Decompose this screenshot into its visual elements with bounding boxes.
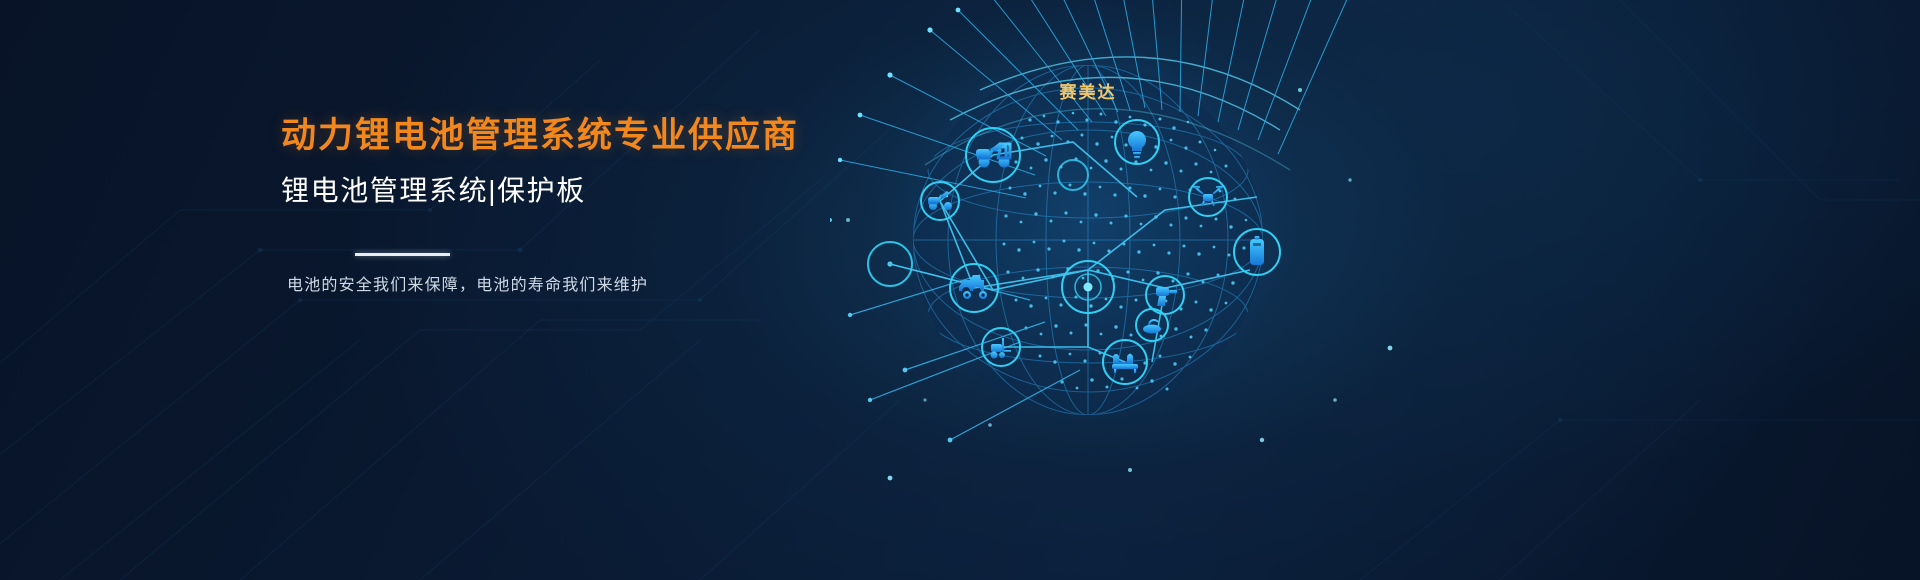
globe-network-graphic: 赛美达 (830, 0, 1530, 580)
hero-headline: 动力锂电池管理系统专业供应商 (281, 118, 901, 153)
brand-mark-text: 赛美达 (1059, 82, 1117, 102)
hero-subtitle: 锂电池管理系统|保护板 (281, 177, 901, 205)
hero-tagline: 电池的安全我们来保障，电池的寿命我们来维护 (287, 278, 901, 294)
hero-divider (355, 253, 450, 256)
hero-text-block: 动力锂电池管理系统专业供应商 锂电池管理系统|保护板 电池的安全我们来保障，电池… (281, 118, 901, 294)
hero-banner: 赛美达 动力锂电池管理系统专业供应商 锂电池管理系统|保护板 电池的安全我们来保… (0, 0, 1920, 580)
